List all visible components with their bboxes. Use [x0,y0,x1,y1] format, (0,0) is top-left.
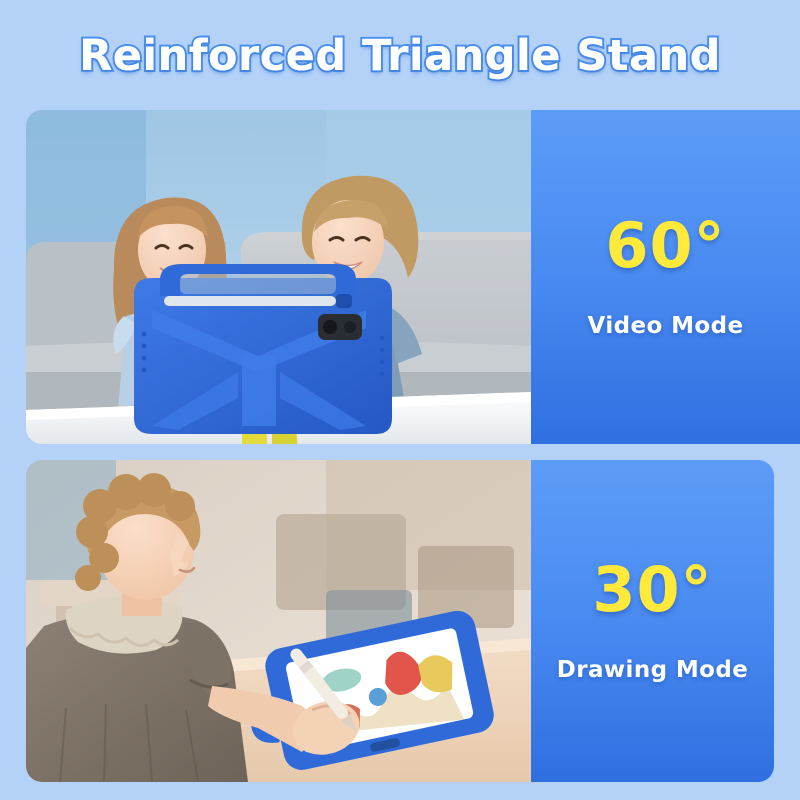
photo-drawing-mode [26,460,531,782]
product-feature-page: Reinforced Triangle Stand Reinforced Tri… [0,0,800,800]
page-title-text: Reinforced Triangle Stand [79,31,721,81]
spec-panel-video-mode: 60° Video Mode [531,110,800,444]
photo-video-mode [26,110,531,444]
angle-value: 60° [605,215,725,277]
page-title: Reinforced Triangle Stand Reinforced Tri… [0,22,800,90]
mode-label: Drawing Mode [557,657,748,683]
spec-panel-drawing-mode: 30° Drawing Mode [531,460,774,782]
photo-drawing-mode-illustration [26,460,531,782]
mode-label: Video Mode [588,313,744,339]
feature-card-video-mode: 60° Video Mode [26,110,800,444]
tablet-blue-case [134,264,392,444]
feature-card-drawing-mode: 30° Drawing Mode [26,460,774,782]
photo-video-mode-illustration [26,110,531,444]
angle-value: 30° [592,559,712,621]
